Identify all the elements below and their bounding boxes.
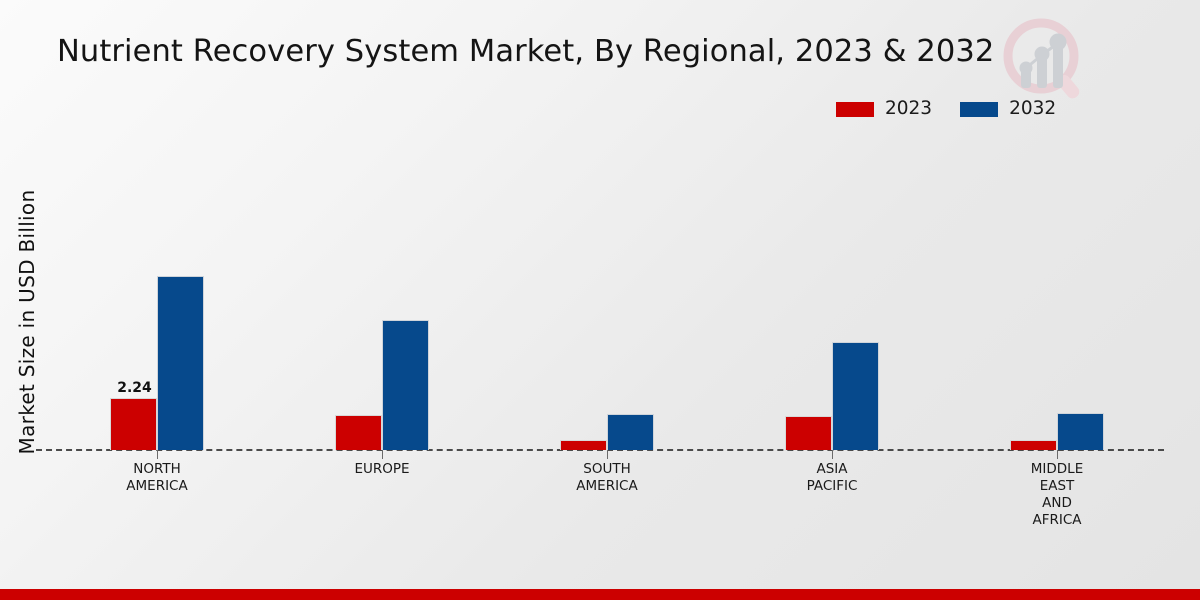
bar-group-south-america <box>560 150 654 450</box>
bar-middle-east-and-africa-2032[interactable] <box>1057 413 1104 450</box>
x-label-line: SOUTH <box>527 461 687 478</box>
x-label-asia-pacific: ASIA PACIFIC <box>752 461 912 495</box>
x-label-middle-east-and-africa: MIDDLE EAST AND AFRICA <box>977 461 1137 529</box>
bar-value-north-america-2023: 2.24 <box>111 380 158 396</box>
x-tick-asia-pacific <box>832 450 833 459</box>
bar-asia-pacific-2032[interactable] <box>832 342 879 450</box>
bar-group-asia-pacific <box>785 150 879 450</box>
bar-group-europe <box>335 150 429 450</box>
bar-middle-east-and-africa-2023[interactable] <box>1010 440 1057 450</box>
bar-europe-2032[interactable] <box>382 320 429 450</box>
x-label-line: NORTH <box>77 461 237 478</box>
bar-group-north-america: 2.24 <box>110 150 204 450</box>
x-label-south-america: SOUTH AMERICA <box>527 461 687 495</box>
x-label-line: ASIA <box>752 461 912 478</box>
x-label-europe: EUROPE <box>302 461 462 478</box>
bottom-banner <box>0 589 1200 600</box>
bar-north-america-2023[interactable]: 2.24 <box>110 398 157 450</box>
plot-area: 2.24 NORTH AMERICA EUROPE SOUTH AMERICA <box>0 0 1200 600</box>
bar-europe-2023[interactable] <box>335 415 382 450</box>
bar-north-america-2032[interactable] <box>157 276 204 450</box>
x-tick-north-america <box>157 450 158 459</box>
x-label-line: EAST <box>977 478 1137 495</box>
bar-group-middle-east-and-africa <box>1010 150 1104 450</box>
bar-south-america-2023[interactable] <box>560 440 607 450</box>
x-label-line: PACIFIC <box>752 478 912 495</box>
x-label-line: AMERICA <box>527 478 687 495</box>
x-label-line: MIDDLE <box>977 461 1137 478</box>
bar-asia-pacific-2023[interactable] <box>785 416 832 450</box>
x-tick-europe <box>382 450 383 459</box>
x-label-north-america: NORTH AMERICA <box>77 461 237 495</box>
x-label-line: AFRICA <box>977 512 1137 529</box>
chart-figure: Nutrient Recovery System Market, By Regi… <box>0 0 1200 600</box>
bar-south-america-2032[interactable] <box>607 414 654 450</box>
x-label-line: AND <box>977 495 1137 512</box>
x-label-line: EUROPE <box>302 461 462 478</box>
x-tick-middle-east-and-africa <box>1057 450 1058 459</box>
x-tick-south-america <box>607 450 608 459</box>
x-label-line: AMERICA <box>77 478 237 495</box>
